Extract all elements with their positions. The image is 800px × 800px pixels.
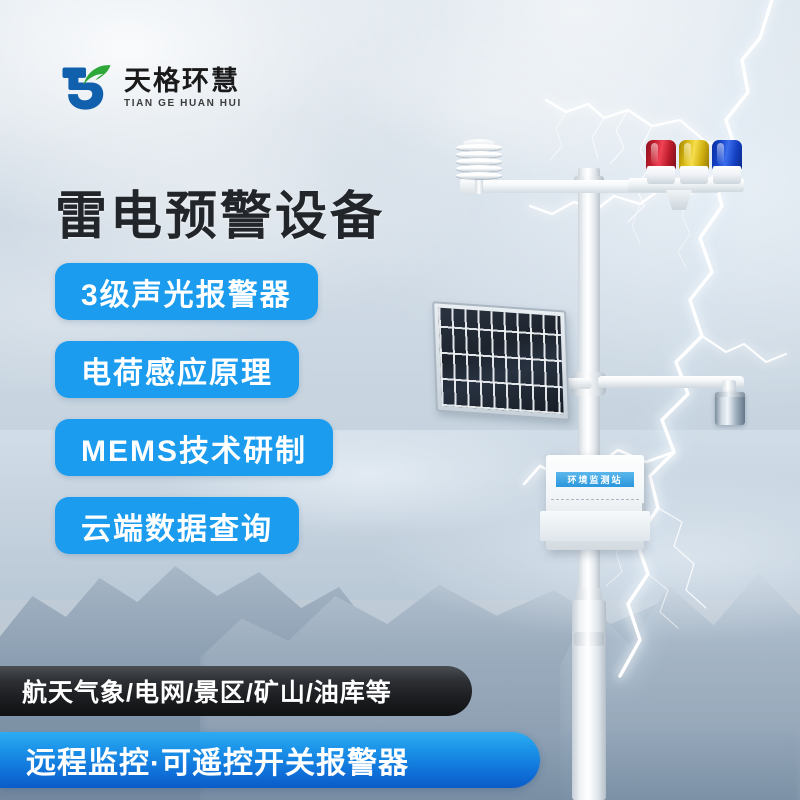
tagline-text: 远程监控·可遥控开关报警器 (0, 738, 409, 782)
brand-name-en: TIAN GE HUAN HUI (124, 98, 242, 109)
feature-pill-alarm: 3级声光报警器 (55, 263, 318, 320)
beacon-base (680, 166, 708, 184)
blue-alarm-beacon-icon (712, 140, 742, 184)
mast-pole-lower (572, 600, 606, 800)
solar-panel-icon (432, 301, 570, 421)
feature-pill-principle: 电荷感应原理 (55, 341, 299, 398)
feature-pill-cloud: 云端数据查询 (55, 497, 299, 554)
shield-plate (456, 158, 502, 165)
amber-alarm-beacon-icon (679, 140, 709, 184)
radiation-shield-sensor-icon (456, 144, 502, 186)
mast-collar-low (574, 632, 604, 646)
applications-text: 航天气象/电网/景区/矿山/油库等 (0, 673, 392, 709)
shield-plate (456, 144, 502, 151)
shield-stem (475, 180, 483, 194)
enclosure-label: 环境监测站 (556, 472, 634, 487)
enclosure-box: 环境监测站 (546, 455, 644, 550)
beacon-gloss (651, 143, 658, 164)
brand-logo: 天格环慧 TIAN GE HUAN HUI (58, 62, 242, 114)
beacon-base (713, 166, 741, 184)
beacon-bracket (666, 190, 692, 210)
feature-pill-mems: MEMS技术研制 (55, 419, 333, 476)
red-alarm-beacon-icon (646, 140, 676, 184)
brand-name-cn: 天格环慧 (124, 67, 242, 95)
feature-pill-list: 3级声光报警器 电荷感应原理 MEMS技术研制 云端数据查询 (55, 263, 333, 554)
applications-bar: 航天气象/电网/景区/矿山/油库等 (0, 666, 472, 716)
shield-plate (456, 172, 502, 179)
tagline-bar: 远程监控·可遥控开关报警器 (0, 732, 540, 788)
solar-cell-grid (438, 308, 563, 415)
mast-pole-upper (578, 168, 600, 638)
shield-plate (456, 165, 502, 172)
enclosure-lower-lip (540, 511, 650, 541)
cylindrical-field-mill-sensor-icon (715, 392, 745, 425)
page-title: 雷电预警设备 (55, 174, 385, 249)
enclosure-seam (551, 499, 639, 500)
beacon-gloss (684, 143, 691, 164)
beacon-gloss (717, 143, 724, 164)
scene-background: 环境监测站 天格环慧 TIAN GE HUAN HUI 雷电预警设备 3级声光报… (0, 0, 800, 800)
shield-plate (456, 151, 502, 158)
tiange-swoosh-leaf-logo-icon (58, 62, 114, 114)
beacon-base (647, 166, 675, 184)
